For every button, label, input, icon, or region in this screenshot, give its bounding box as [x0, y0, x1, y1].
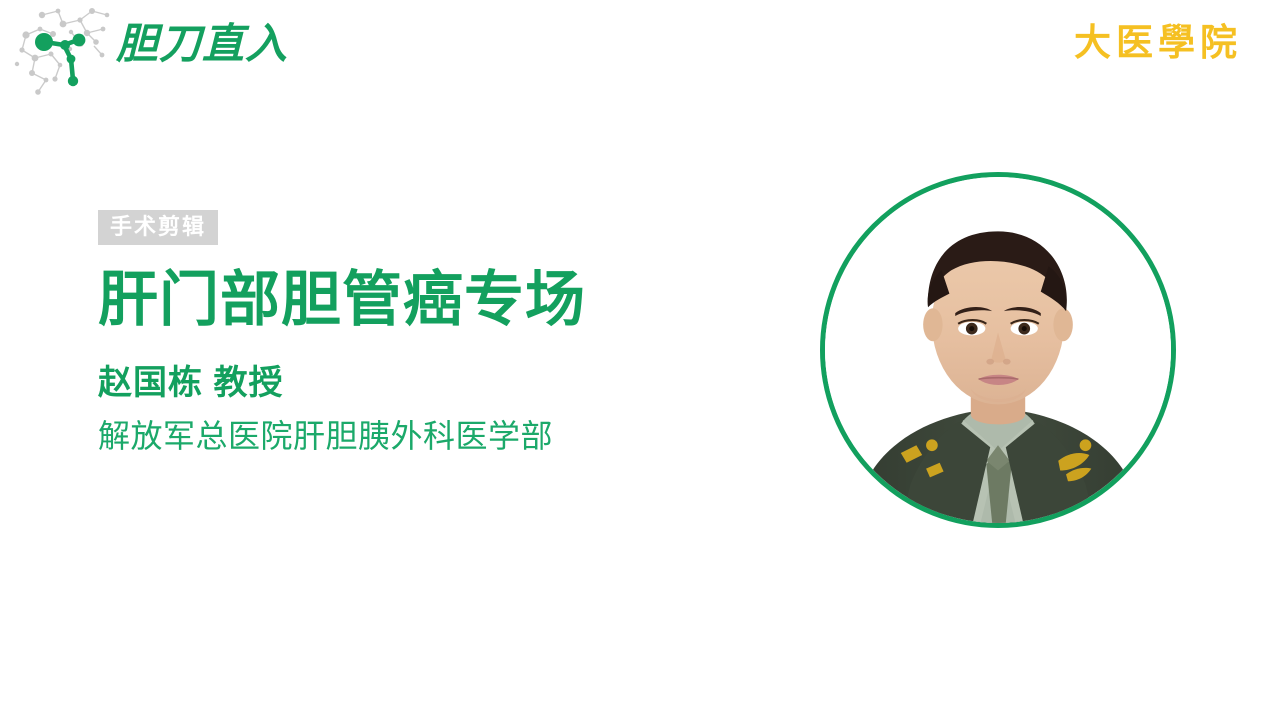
section-badge: 手术剪辑 [98, 210, 218, 245]
speaker-portrait [820, 172, 1176, 528]
slide-header: 胆刀直入 大医學院 [0, 0, 1280, 110]
academy-wordmark: 大医學院 [1074, 22, 1242, 66]
presentation-slide: 胆刀直入 大医學院 手术剪辑 肝门部胆管癌专场 赵国栋 教授 解放军总医院肝胆胰… [0, 0, 1280, 720]
brand-wordmark: 胆刀直入 [116, 20, 288, 68]
speaker-affiliation: 解放军总医院肝胆胰外科医学部 [98, 417, 738, 455]
session-title: 肝门部胆管癌专场 [98, 267, 738, 333]
speaker-name: 赵国栋 教授 [98, 363, 738, 403]
network-nodes-icon [8, 2, 118, 107]
brand-lockup: 胆刀直入 [8, 2, 308, 107]
session-info-block: 手术剪辑 肝门部胆管癌专场 赵国栋 教授 解放军总医院肝胆胰外科医学部 [98, 210, 738, 455]
